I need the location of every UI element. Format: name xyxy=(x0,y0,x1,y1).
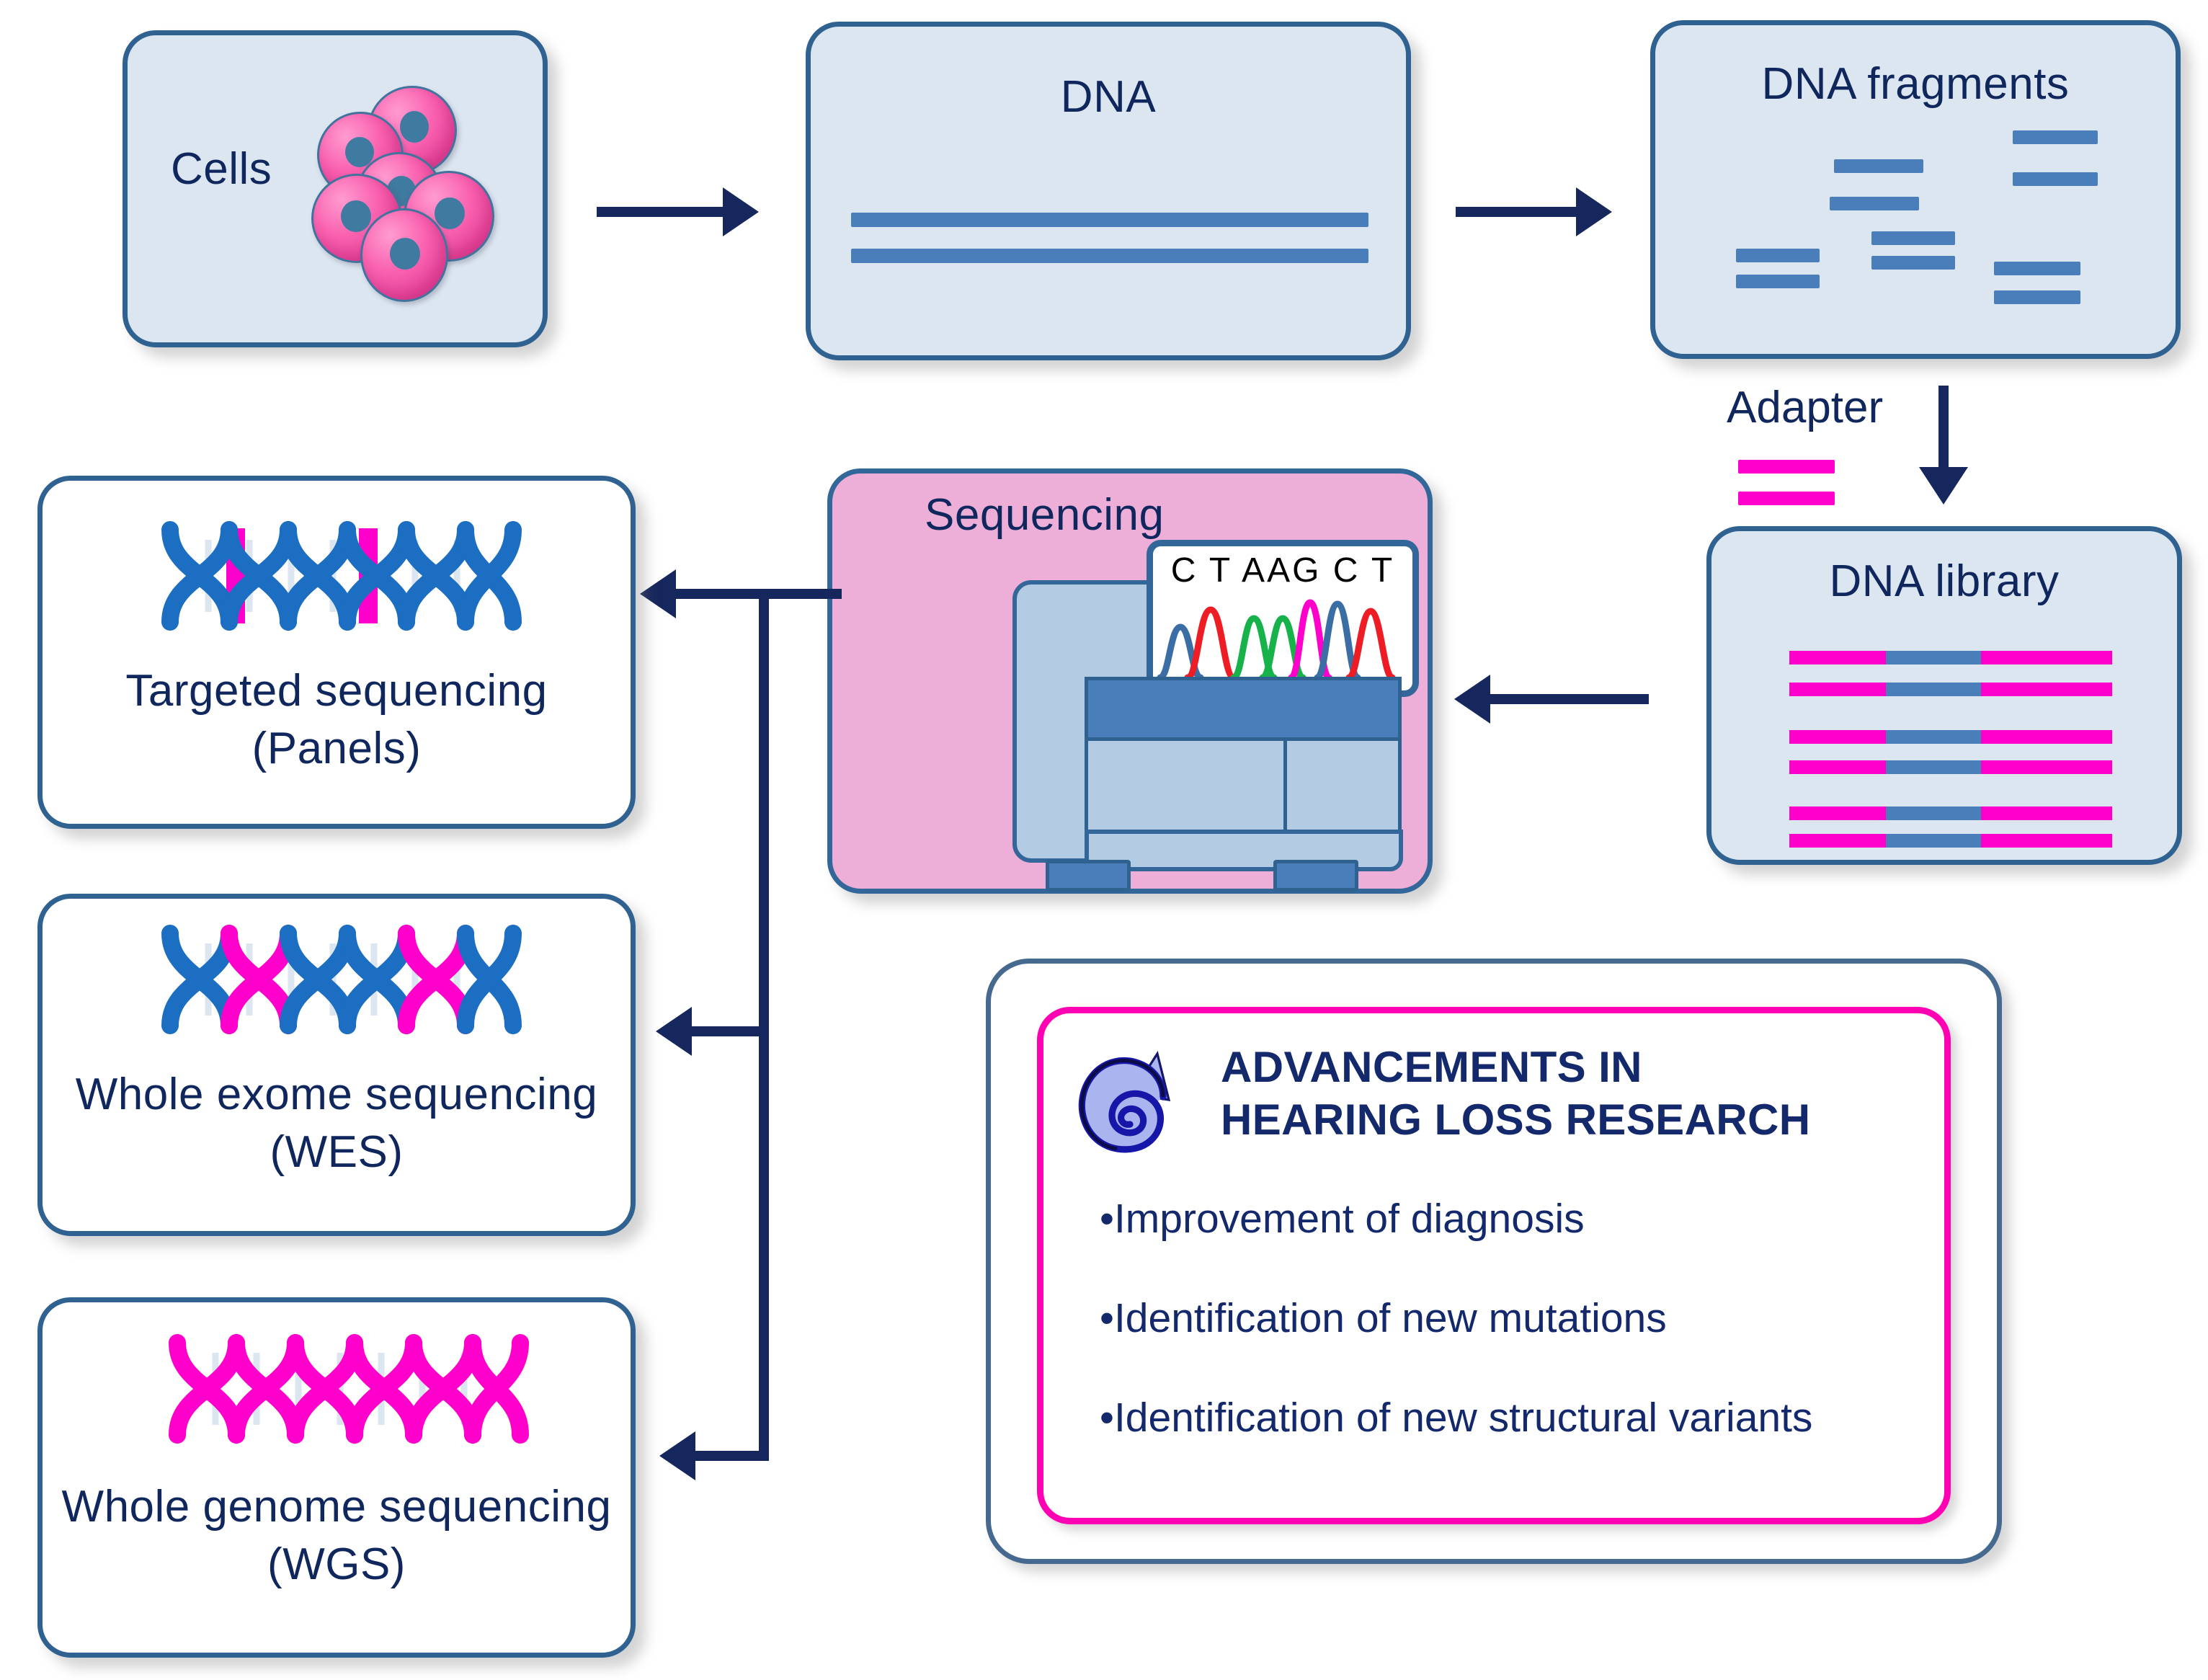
adapter-label: Adapter xyxy=(1727,382,1883,433)
sequencing-box: Sequencing C T AAG C T xyxy=(827,468,1433,894)
dna-library-box: DNA library xyxy=(1706,526,2182,865)
arrow-fragments-to-library-head xyxy=(1919,467,1968,505)
dna-fragment xyxy=(1834,159,1923,173)
arrow-dna-to-fragments-head xyxy=(1576,187,1612,236)
wes-box: Whole exome sequencing (WES) xyxy=(37,894,636,1236)
sequencer-foot-left xyxy=(1046,860,1131,892)
branch-to-wgs xyxy=(695,1451,764,1461)
targeted-sequencing-box: Targeted sequencing (Panels) xyxy=(37,476,636,829)
wes-label-line2: (WES) xyxy=(43,1126,631,1178)
dna-helix-wes-icon xyxy=(154,922,529,1037)
advancements-box: ADVANCEMENTS IN HEARING LOSS RESEARCH •I… xyxy=(986,959,2002,1564)
adapter-bar xyxy=(1738,460,1835,474)
chromatogram-icon xyxy=(1153,546,1412,690)
adapter-bar xyxy=(1738,492,1835,505)
advancements-inner-frame: ADVANCEMENTS IN HEARING LOSS RESEARCH •I… xyxy=(1037,1007,1951,1524)
library-construct xyxy=(1789,651,2112,665)
dna-fragment xyxy=(2013,130,2098,144)
branch-to-wes xyxy=(692,1026,764,1036)
dna-fragment xyxy=(1736,249,1820,262)
arrow-library-to-sequencer-shaft xyxy=(1490,694,1649,704)
branch-to-targeted xyxy=(676,589,842,599)
dna-fragment xyxy=(1994,290,2080,304)
arrow-library-to-sequencer-head xyxy=(1454,675,1490,724)
arrow-cells-to-dna-shaft xyxy=(597,207,726,217)
library-construct xyxy=(1789,730,2112,744)
dna-fragment xyxy=(2013,172,2098,186)
cochlea-icon xyxy=(1068,1034,1212,1178)
branch-to-wgs-head xyxy=(659,1431,695,1480)
dna-strand-top xyxy=(851,213,1368,227)
dna-fragments-label: DNA fragments xyxy=(1655,58,2176,110)
advancements-bullet: •Improvement of diagnosis xyxy=(1100,1195,1585,1243)
dna-fragment xyxy=(1994,262,2080,275)
branch-to-wes-head xyxy=(656,1007,692,1056)
advancements-title: ADVANCEMENTS IN HEARING LOSS RESEARCH xyxy=(1221,1041,1811,1146)
dna-helix-wgs-icon xyxy=(161,1331,536,1446)
sequencer-drawer-left xyxy=(1085,737,1294,840)
branch-trunk xyxy=(759,589,769,1461)
cells-label: Cells xyxy=(171,143,272,195)
targeted-label-line2: (Panels) xyxy=(43,723,631,774)
library-construct xyxy=(1789,806,2112,820)
dna-fragment xyxy=(1830,197,1919,210)
sequencer-screen: C T AAG C T xyxy=(1147,540,1419,697)
advancements-bullet: •Identification of new mutations xyxy=(1100,1294,1667,1342)
library-construct xyxy=(1789,683,2112,696)
advancements-title-line2: HEARING LOSS RESEARCH xyxy=(1221,1093,1811,1146)
cell-cluster-icon xyxy=(311,86,520,302)
dna-fragment xyxy=(1736,275,1820,288)
dna-fragments-box: DNA fragments xyxy=(1650,20,2181,359)
wgs-label-line2: (WGS) xyxy=(43,1539,631,1590)
wgs-label-line1: Whole genome sequencing xyxy=(43,1481,631,1532)
dna-fragment xyxy=(1871,256,1955,270)
dna-label: DNA xyxy=(811,71,1406,123)
dna-fragment xyxy=(1871,231,1955,245)
library-construct xyxy=(1789,760,2112,774)
sequencer-foot-right xyxy=(1273,860,1358,892)
advancements-title-line1: ADVANCEMENTS IN xyxy=(1221,1041,1811,1093)
dna-helix-targeted-icon xyxy=(154,518,529,634)
sequencing-label: Sequencing xyxy=(925,489,1165,541)
diagram-canvas: Cells DNA DNA fragments Adapter xyxy=(0,0,2208,1680)
branch-to-targeted-head xyxy=(640,569,676,618)
cells-box: Cells xyxy=(123,30,548,347)
advancements-bullet: •Identification of new structural varian… xyxy=(1100,1394,1812,1441)
arrow-cells-to-dna-head xyxy=(723,187,759,236)
dna-library-label: DNA library xyxy=(1711,556,2177,607)
targeted-label-line1: Targeted sequencing xyxy=(43,665,631,716)
dna-box: DNA xyxy=(806,22,1411,360)
library-construct xyxy=(1789,834,2112,848)
sequencer-drawer-right xyxy=(1283,737,1402,840)
arrow-fragments-to-library-shaft xyxy=(1938,386,1949,472)
arrow-dna-to-fragments-shaft xyxy=(1456,207,1580,217)
wgs-box: Whole genome sequencing (WGS) xyxy=(37,1297,636,1658)
dna-strand-bottom xyxy=(851,249,1368,263)
wes-label-line1: Whole exome sequencing xyxy=(43,1069,631,1120)
